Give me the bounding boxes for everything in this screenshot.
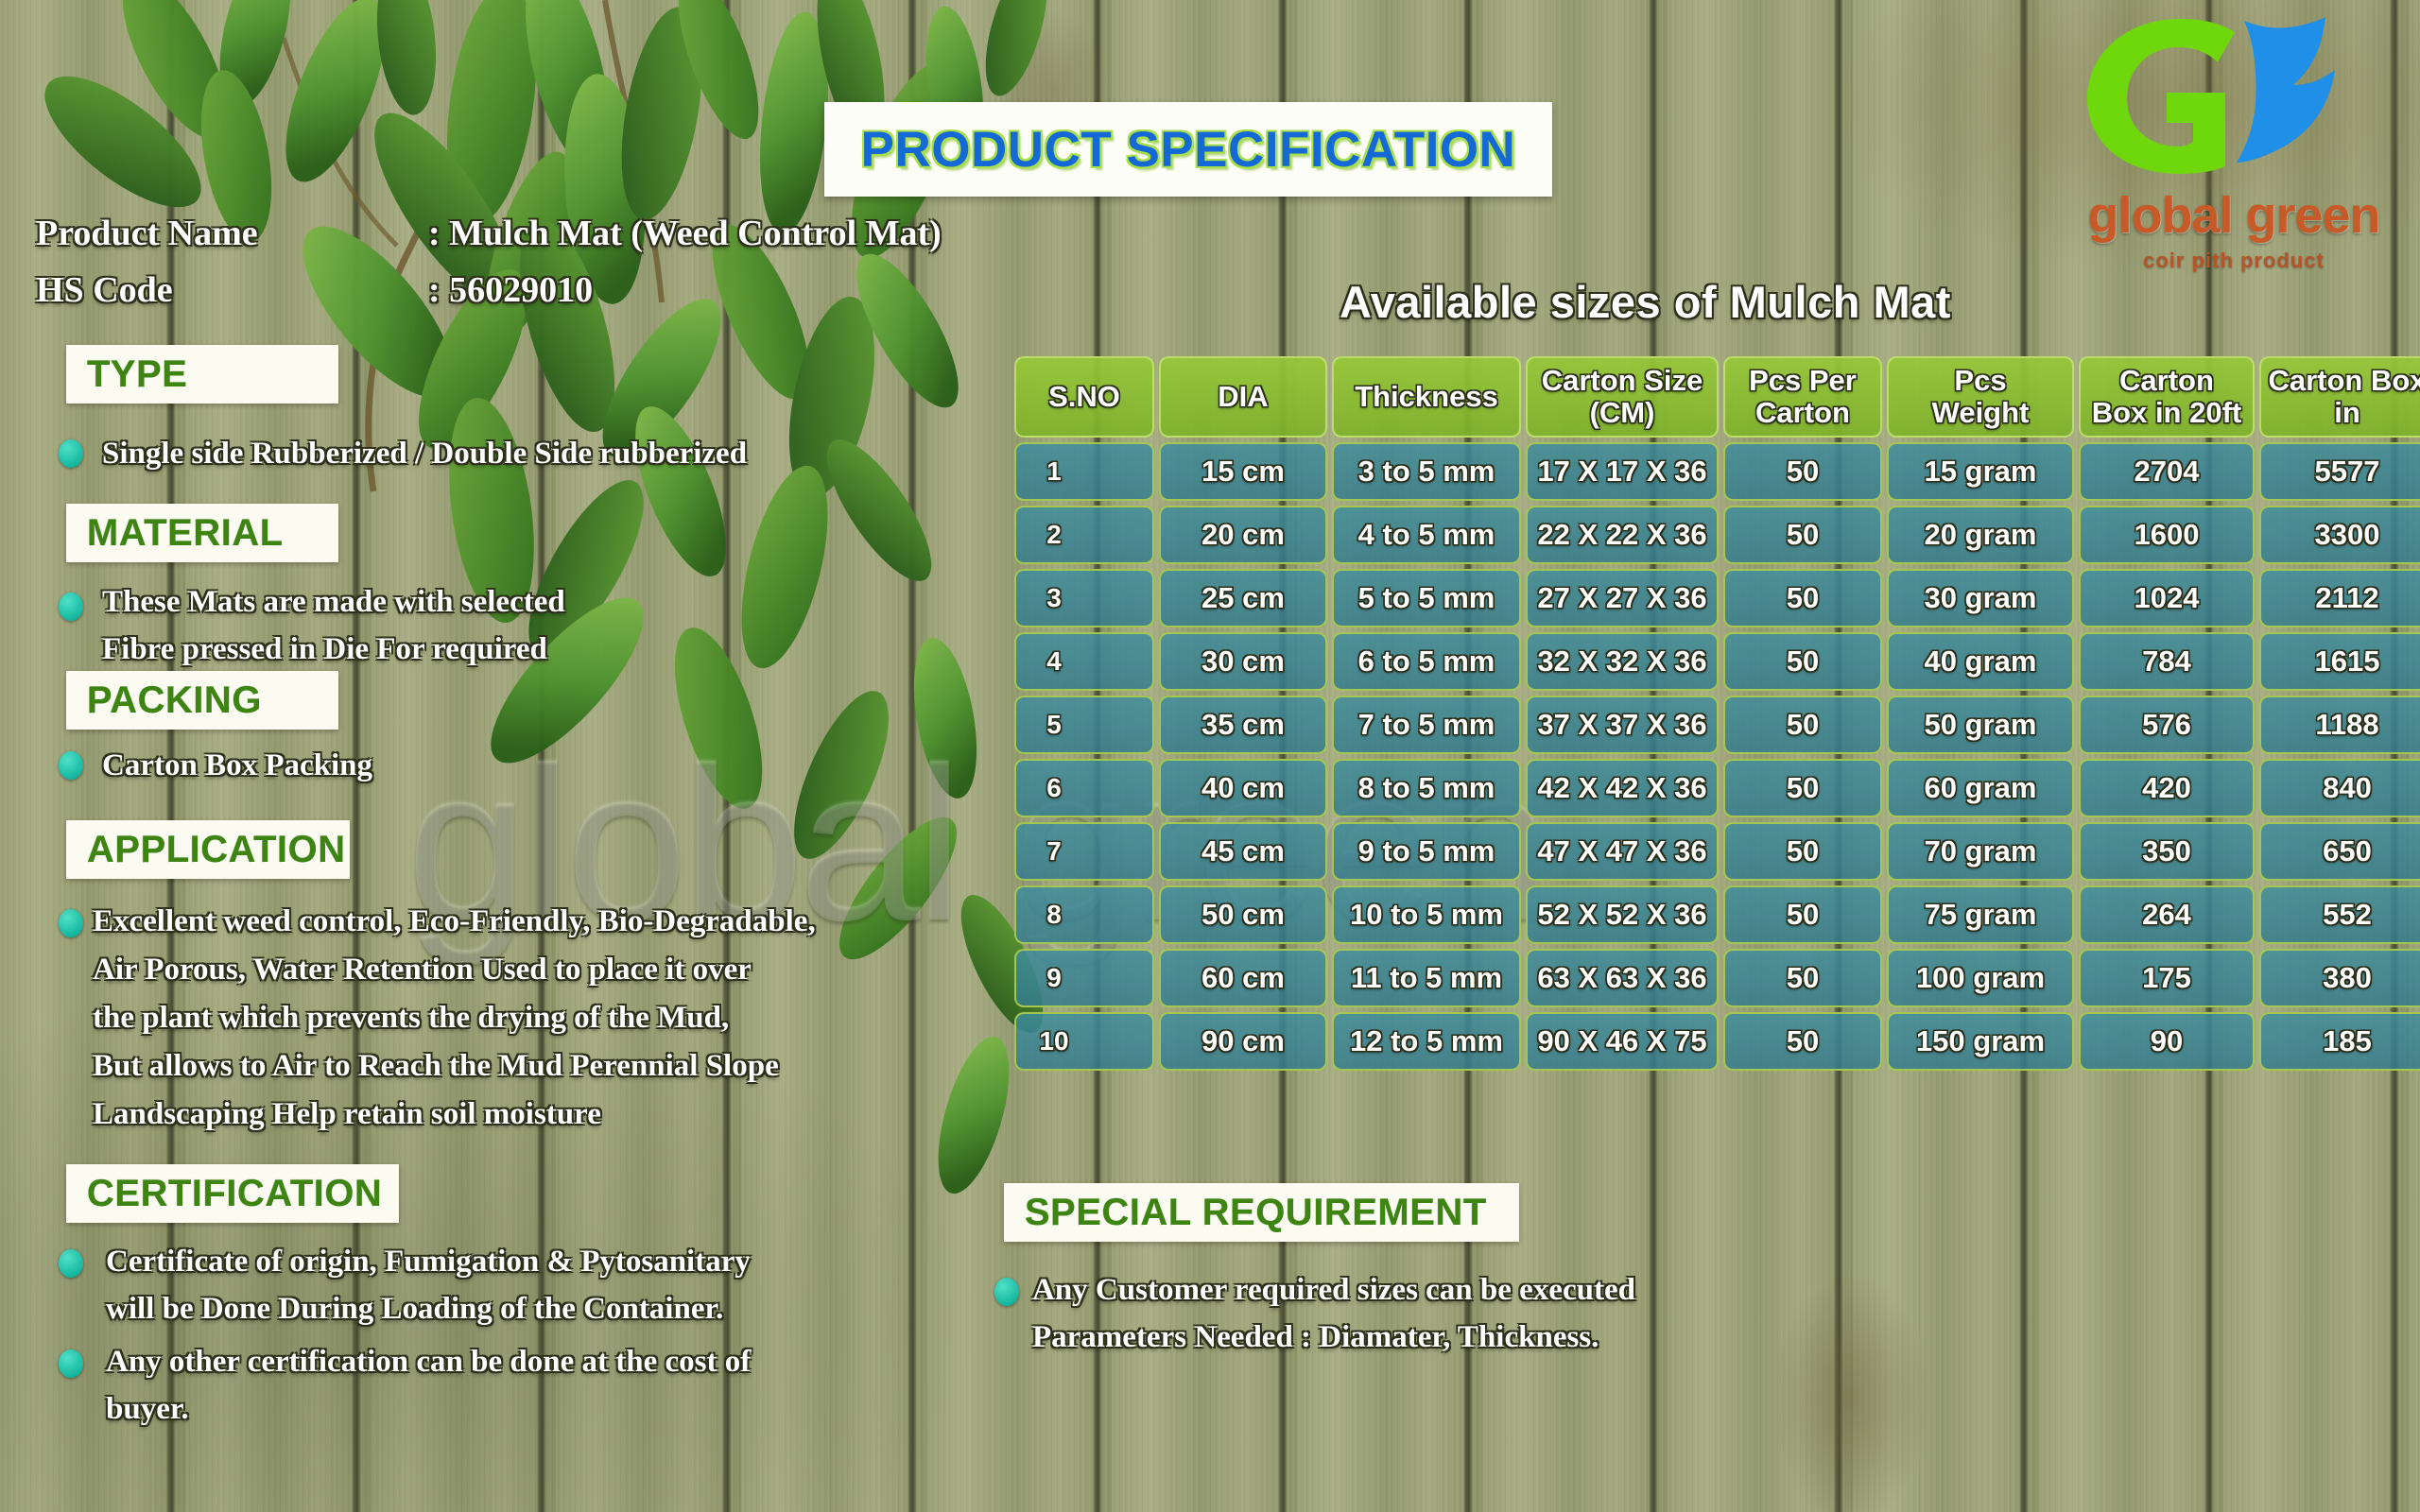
table-cell: 50	[1723, 822, 1882, 881]
table-cell: 1615	[2259, 632, 2420, 691]
section-heading-application: APPLICATION	[66, 820, 350, 879]
table-row: 745 cm9 to 5 mm47 X 47 X 365070 gram3506…	[1014, 822, 2420, 881]
table-cell: 150 gram	[1887, 1012, 2074, 1071]
table-cell: 20 cm	[1159, 506, 1327, 564]
column-header-dia: DIA	[1159, 356, 1327, 438]
section-heading-label: MATERIAL	[87, 512, 284, 555]
table-row: 960 cm11 to 5 mm63 X 63 X 3650100 gram17…	[1014, 949, 2420, 1007]
column-header-pcs-weight: Pcs Weight	[1887, 356, 2074, 438]
cell-sno: 6	[1014, 759, 1154, 817]
bullet-icon	[994, 1278, 1019, 1306]
table-cell: 35 cm	[1159, 696, 1327, 754]
column-header-carton-size: Carton Size (CM)	[1526, 356, 1719, 438]
bullet-icon	[59, 909, 83, 937]
company-logo: global green coir pith product	[2068, 11, 2399, 257]
table-cell: 650	[2259, 822, 2420, 881]
table-cell: 8 to 5 mm	[1332, 759, 1521, 817]
section-body-packing: Carton Box Packing	[102, 742, 1010, 789]
table-cell: 40 cm	[1159, 759, 1327, 817]
table-cell: 380	[2259, 949, 2420, 1007]
table-cell: 40 gram	[1887, 632, 2074, 691]
section-body-type: Single side Rubberized / Double Side rub…	[102, 430, 1010, 477]
table-cell: 25 cm	[1159, 569, 1327, 627]
table-cell: 27 X 27 X 36	[1526, 569, 1719, 627]
table-row: 325 cm5 to 5 mm27 X 27 X 365030 gram1024…	[1014, 569, 2420, 627]
section-heading-label: PACKING	[87, 679, 262, 722]
table-cell: 70 gram	[1887, 822, 2074, 881]
cell-sno: 4	[1014, 632, 1154, 691]
section-body-certification-2: Any other certification can be done at t…	[106, 1338, 1032, 1433]
table-cell: 50	[1723, 696, 1882, 754]
meta-label: HS Code	[36, 269, 173, 311]
table-cell: 60 cm	[1159, 949, 1327, 1007]
section-body-material: These Mats are made with selected Fibre …	[102, 578, 1010, 673]
meta-label: Product Name	[36, 213, 258, 254]
section-body-application: Excellent weed control, Eco-Friendly, Bi…	[93, 898, 1038, 1139]
table-cell: 175	[2079, 949, 2255, 1007]
cell-sno: 7	[1014, 822, 1154, 881]
table-cell: 5577	[2259, 442, 2420, 501]
table-cell: 50	[1723, 569, 1882, 627]
table-cell: 63 X 63 X 36	[1526, 949, 1719, 1007]
section-heading-special-requirement: SPECIAL REQUIREMENT	[1004, 1183, 1519, 1242]
table-cell: 90	[2079, 1012, 2255, 1071]
section-heading-label: SPECIAL REQUIREMENT	[1025, 1192, 1487, 1234]
table-cell: 75 gram	[1887, 885, 2074, 944]
table-cell: 22 X 22 X 36	[1526, 506, 1719, 564]
meta-value: : 56029010	[428, 269, 593, 311]
column-header-thickness: Thickness	[1332, 356, 1521, 438]
bullet-icon	[59, 439, 83, 468]
table-cell: 42 X 42 X 36	[1526, 759, 1719, 817]
cell-sno: 2	[1014, 506, 1154, 564]
table-cell: 185	[2259, 1012, 2420, 1071]
table-row: 220 cm4 to 5 mm22 X 22 X 365020 gram1600…	[1014, 506, 2420, 564]
table-cell: 50 cm	[1159, 885, 1327, 944]
cell-sno: 5	[1014, 696, 1154, 754]
table-cell: 90 cm	[1159, 1012, 1327, 1071]
table-cell: 1188	[2259, 696, 2420, 754]
section-heading-packing: PACKING	[66, 671, 338, 730]
table-cell: 264	[2079, 885, 2255, 944]
table-cell: 15 gram	[1887, 442, 2074, 501]
table-row: 430 cm6 to 5 mm32 X 32 X 365040 gram7841…	[1014, 632, 2420, 691]
cell-sno: 8	[1014, 885, 1154, 944]
table-cell: 1600	[2079, 506, 2255, 564]
table-cell: 15 cm	[1159, 442, 1327, 501]
table-cell: 420	[2079, 759, 2255, 817]
cell-sno: 3	[1014, 569, 1154, 627]
table-cell: 50	[1723, 759, 1882, 817]
cell-sno: 1	[1014, 442, 1154, 501]
logo-mark-icon	[2068, 11, 2399, 181]
logo-brand-text: global green	[2068, 186, 2399, 245]
table-row: 115 cm3 to 5 mm17 X 17 X 365015 gram2704…	[1014, 442, 2420, 501]
table-cell: 47 X 47 X 36	[1526, 822, 1719, 881]
section-heading-label: TYPE	[87, 353, 187, 396]
table-cell: 10 to 5 mm	[1332, 885, 1521, 944]
cell-sno: 10	[1014, 1012, 1154, 1071]
table-body: 115 cm3 to 5 mm17 X 17 X 365015 gram2704…	[1014, 442, 2420, 1071]
table-heading: Available sizes of Mulch Mat	[1340, 276, 1951, 328]
section-heading-label: CERTIFICATION	[87, 1173, 382, 1215]
table-cell: 12 to 5 mm	[1332, 1012, 1521, 1071]
column-header-pcs-per-carton: Pcs Per Carton	[1723, 356, 1882, 438]
table-cell: 50 gram	[1887, 696, 2074, 754]
column-header-sno: S.NO	[1014, 356, 1154, 438]
table-cell: 100 gram	[1887, 949, 2074, 1007]
bullet-icon	[59, 751, 83, 780]
page-title: PRODUCT SPECIFICATION	[861, 121, 1516, 179]
table-cell: 20 gram	[1887, 506, 2074, 564]
table-cell: 350	[2079, 822, 2255, 881]
table-cell: 3 to 5 mm	[1332, 442, 1521, 501]
table-cell: 32 X 32 X 36	[1526, 632, 1719, 691]
table-cell: 4 to 5 mm	[1332, 506, 1521, 564]
section-body-certification-1: Certificate of origin, Fumigation & Pyto…	[106, 1238, 1032, 1332]
table-cell: 60 gram	[1887, 759, 2074, 817]
table-cell: 30 gram	[1887, 569, 2074, 627]
table-cell: 2704	[2079, 442, 2255, 501]
table-row: 850 cm10 to 5 mm52 X 52 X 365075 gram264…	[1014, 885, 2420, 944]
table-cell: 576	[2079, 696, 2255, 754]
bullet-icon	[59, 593, 83, 621]
table-cell: 45 cm	[1159, 822, 1327, 881]
table-cell: 552	[2259, 885, 2420, 944]
table-cell: 50	[1723, 506, 1882, 564]
table-cell: 50	[1723, 442, 1882, 501]
section-body-special-requirement: Any Customer required sizes can be execu…	[1032, 1266, 2072, 1361]
table-cell: 30 cm	[1159, 632, 1327, 691]
section-heading-material: MATERIAL	[66, 504, 338, 562]
column-header-carton-box-in: Carton Box in	[2259, 356, 2420, 438]
table-header-row: S.NO DIA Thickness Carton Size (CM) Pcs …	[1014, 356, 2420, 438]
cell-sno: 9	[1014, 949, 1154, 1007]
table-cell: 50	[1723, 1012, 1882, 1071]
table-cell: 9 to 5 mm	[1332, 822, 1521, 881]
table-cell: 5 to 5 mm	[1332, 569, 1521, 627]
section-heading-type: TYPE	[66, 345, 338, 404]
bullet-icon	[59, 1349, 83, 1378]
table-cell: 6 to 5 mm	[1332, 632, 1521, 691]
product-specification-banner: PRODUCT SPECIFICATION	[824, 102, 1552, 197]
table-cell: 52 X 52 X 36	[1526, 885, 1719, 944]
table-cell: 37 X 37 X 36	[1526, 696, 1719, 754]
table-cell: 50	[1723, 632, 1882, 691]
column-header-carton-box-20ft: Carton Box in 20ft	[2079, 356, 2255, 438]
table-cell: 90 X 46 X 75	[1526, 1012, 1719, 1071]
table-cell: 50	[1723, 885, 1882, 944]
table-cell: 17 X 17 X 36	[1526, 442, 1719, 501]
table-cell: 2112	[2259, 569, 2420, 627]
meta-value: : Mulch Mat (Weed Control Mat)	[428, 213, 942, 254]
logo-tagline: coir pith product	[2068, 249, 2399, 273]
table-cell: 1024	[2079, 569, 2255, 627]
table-cell: 11 to 5 mm	[1332, 949, 1521, 1007]
mulch-mat-sizes-table: S.NO DIA Thickness Carton Size (CM) Pcs …	[1010, 352, 2420, 1075]
table-row: 640 cm8 to 5 mm42 X 42 X 365060 gram4208…	[1014, 759, 2420, 817]
section-heading-certification: CERTIFICATION	[66, 1164, 399, 1223]
table-row: 1090 cm12 to 5 mm90 X 46 X 7550150 gram9…	[1014, 1012, 2420, 1071]
table-cell: 7 to 5 mm	[1332, 696, 1521, 754]
bullet-icon	[59, 1249, 83, 1278]
table-cell: 784	[2079, 632, 2255, 691]
table-cell: 50	[1723, 949, 1882, 1007]
table-row: 535 cm7 to 5 mm37 X 37 X 365050 gram5761…	[1014, 696, 2420, 754]
table-cell: 840	[2259, 759, 2420, 817]
section-heading-label: APPLICATION	[87, 829, 346, 871]
table-cell: 3300	[2259, 506, 2420, 564]
